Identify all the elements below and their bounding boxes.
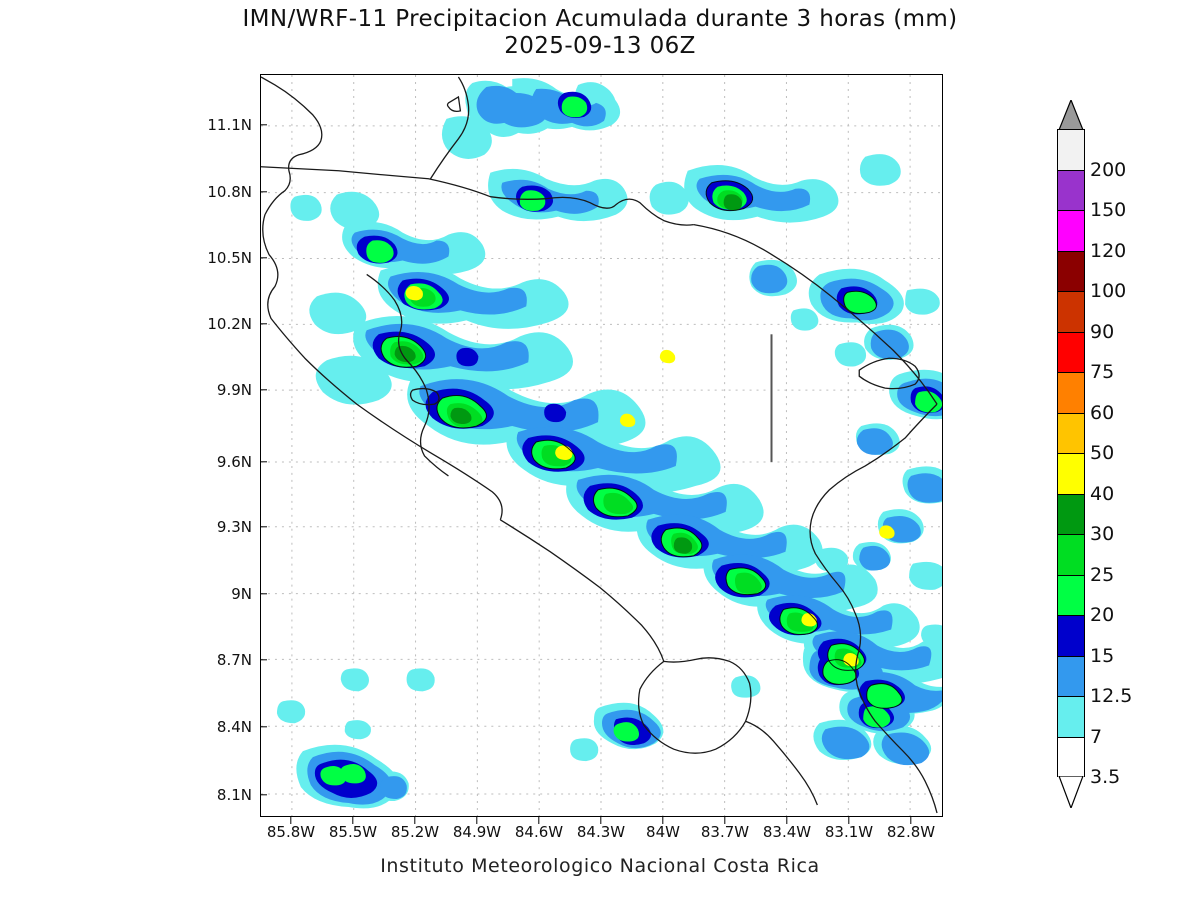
colorbar-tick-label: 150 xyxy=(1090,199,1126,221)
x-tick-label: 84.6W xyxy=(515,823,563,841)
x-axis-labels: 85.8W 85.5W 85.2W 84.9W 84.6W 84.3W 84W … xyxy=(260,823,943,847)
y-tick-label: 10.2N xyxy=(207,315,252,333)
colorbar-bands xyxy=(1057,129,1085,777)
x-tick-label: 85.2W xyxy=(391,823,439,841)
colorbar-band xyxy=(1058,333,1084,374)
x-tick-label: 83.7W xyxy=(701,823,749,841)
x-tick-label: 85.8W xyxy=(267,823,315,841)
colorbar-tick-label: 200 xyxy=(1090,159,1126,181)
colorbar xyxy=(1057,100,1085,806)
map-plot-area xyxy=(260,74,943,817)
colorbar-tick-label: 20 xyxy=(1090,604,1114,626)
colorbar-band xyxy=(1058,130,1084,171)
colorbar-tick-label: 3.5 xyxy=(1090,766,1120,788)
colorbar-tick-label: 50 xyxy=(1090,442,1114,464)
y-tick-label: 8.7N xyxy=(217,651,252,669)
colorbar-tick-label: 40 xyxy=(1090,483,1114,505)
precipitation-map xyxy=(261,75,942,816)
colorbar-band xyxy=(1058,738,1084,779)
x-tick-label: 82.8W xyxy=(887,823,935,841)
colorbar-tick-label: 120 xyxy=(1090,240,1126,262)
colorbar-tick-label: 90 xyxy=(1090,321,1114,343)
colorbar-labels: 20015012010090756050403025201512.573.5 xyxy=(1090,100,1190,806)
colorbar-tick-label: 25 xyxy=(1090,564,1114,586)
colorbar-tick-label: 75 xyxy=(1090,361,1114,383)
x-tick-label: 84.3W xyxy=(577,823,625,841)
colorbar-band xyxy=(1058,171,1084,212)
colorbar-tick-label: 100 xyxy=(1090,280,1126,302)
colorbar-band xyxy=(1058,616,1084,657)
x-tick-label: 83.1W xyxy=(825,823,873,841)
y-tick-label: 9N xyxy=(231,585,252,603)
y-axis-labels: 11.1N 10.8N 10.5N 10.2N 9.9N 9.6N 9.3N 9… xyxy=(190,74,252,817)
y-tick-label: 8.1N xyxy=(217,786,252,804)
colorbar-over-arrow xyxy=(1057,100,1085,130)
colorbar-band xyxy=(1058,697,1084,738)
colorbar-under-arrow xyxy=(1057,776,1085,808)
colorbar-band xyxy=(1058,211,1084,252)
x-tick-label: 84W xyxy=(646,823,680,841)
y-axis-ticks xyxy=(260,74,268,817)
y-tick-label: 9.3N xyxy=(217,518,252,536)
colorbar-tick-label: 15 xyxy=(1090,645,1114,667)
colorbar-tick-label: 60 xyxy=(1090,402,1114,424)
colorbar-band xyxy=(1058,657,1084,698)
colorbar-band xyxy=(1058,535,1084,576)
colorbar-band xyxy=(1058,495,1084,536)
y-tick-label: 11.1N xyxy=(207,116,252,134)
colorbar-band xyxy=(1058,576,1084,617)
x-tick-label: 84.9W xyxy=(453,823,501,841)
source-attribution: Instituto Meteorologico Nacional Costa R… xyxy=(0,855,1200,877)
colorbar-tick-label: 7 xyxy=(1090,726,1102,748)
page-title: IMN/WRF-11 Precipitacion Acumulada duran… xyxy=(0,6,1200,33)
colorbar-band xyxy=(1058,373,1084,414)
colorbar-band xyxy=(1058,454,1084,495)
colorbar-band xyxy=(1058,414,1084,455)
y-tick-label: 9.6N xyxy=(217,453,252,471)
y-tick-label: 10.8N xyxy=(207,183,252,201)
colorbar-tick-label: 30 xyxy=(1090,523,1114,545)
x-tick-label: 83.4W xyxy=(763,823,811,841)
chart-subtitle: 2025-09-13 06Z xyxy=(0,33,1200,60)
colorbar-band xyxy=(1058,252,1084,293)
y-tick-label: 8.4N xyxy=(217,718,252,736)
y-tick-label: 10.5N xyxy=(207,249,252,267)
x-tick-label: 85.5W xyxy=(329,823,377,841)
chart-title-block: IMN/WRF-11 Precipitacion Acumulada duran… xyxy=(0,6,1200,60)
y-tick-label: 9.9N xyxy=(217,381,252,399)
precipitation-contours xyxy=(277,78,942,808)
colorbar-tick-label: 12.5 xyxy=(1090,685,1132,707)
colorbar-band xyxy=(1058,292,1084,333)
